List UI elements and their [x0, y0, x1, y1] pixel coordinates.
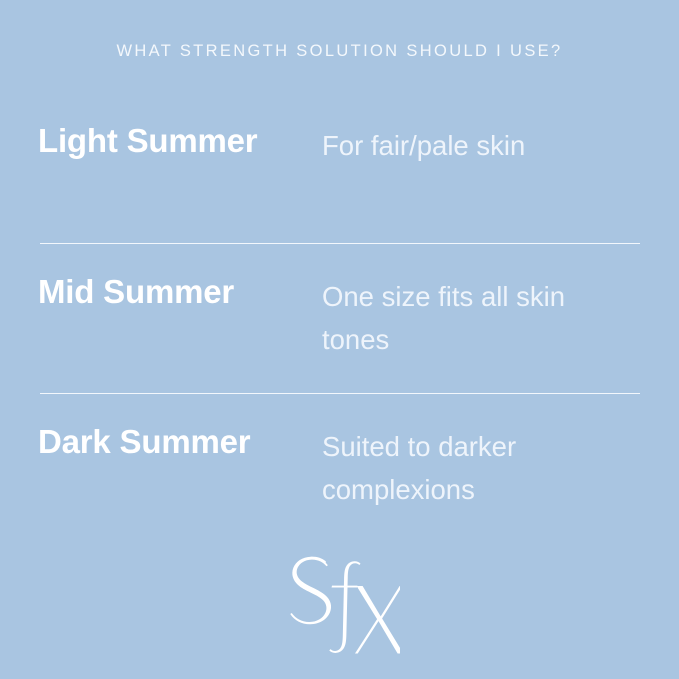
- option-description-mid-summer: One size fits all skin tones: [322, 276, 612, 361]
- option-description-light-summer: For fair/pale skin: [322, 125, 612, 168]
- list-item: Dark Summer Suited to darker complexions: [38, 393, 640, 543]
- brand-logo: [0, 552, 679, 656]
- strength-options-list: Light Summer For fair/pale skin Mid Summ…: [38, 124, 640, 543]
- option-description-dark-summer: Suited to darker complexions: [322, 426, 612, 511]
- option-title-light-summer: Light Summer: [38, 124, 322, 157]
- sfx-monogram-icon: [280, 552, 400, 656]
- list-item: Light Summer For fair/pale skin: [38, 124, 640, 243]
- option-title-dark-summer: Dark Summer: [38, 425, 322, 458]
- divider: [40, 393, 640, 394]
- strength-solution-card: WHAT STRENGTH SOLUTION SHOULD I USE? Lig…: [0, 0, 679, 679]
- divider: [40, 243, 640, 244]
- option-title-mid-summer: Mid Summer: [38, 275, 322, 308]
- list-item: Mid Summer One size fits all skin tones: [38, 243, 640, 393]
- page-title: WHAT STRENGTH SOLUTION SHOULD I USE?: [0, 42, 679, 61]
